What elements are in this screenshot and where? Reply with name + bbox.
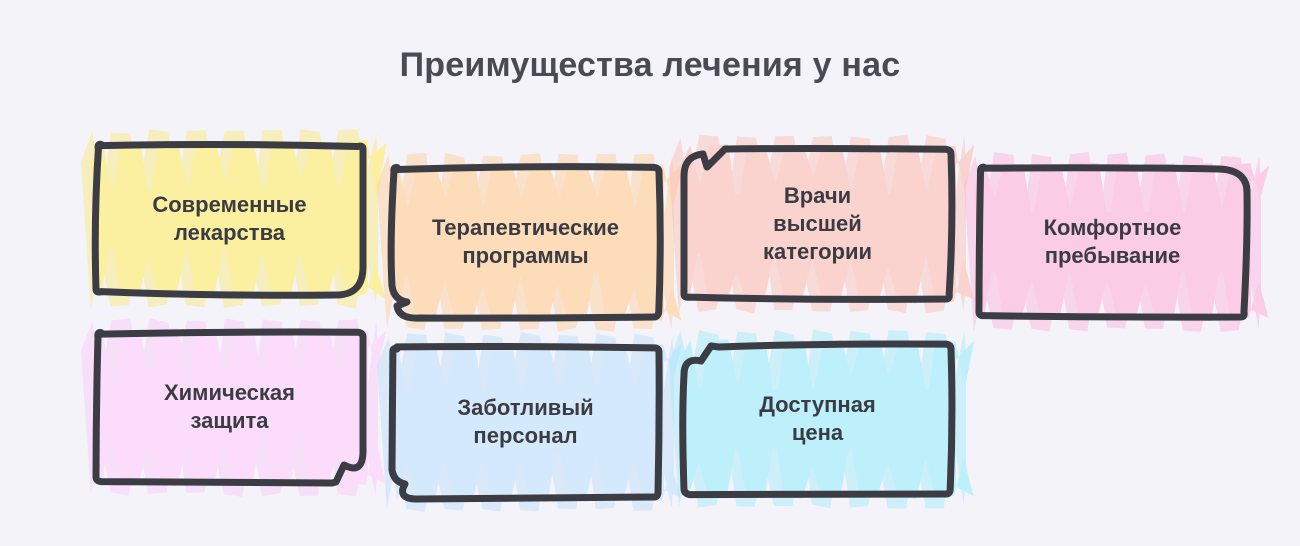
card-sketch-graphic (97, 333, 362, 481)
card-zabotlivyy-personal[interactable]: Заботливый персонал (393, 348, 658, 496)
fill-core (98, 377, 361, 436)
card-komfortnoe-prebyvanie[interactable]: Комфортное пребывание (980, 168, 1245, 316)
card-sovremennye-lekarstva[interactable]: Современные лекарства (97, 145, 362, 293)
slide-canvas: Преимущества лечения у нас Современные л… (0, 0, 1300, 546)
card-sketch-graphic (393, 348, 658, 496)
fill-core (981, 212, 1244, 271)
fill-core (394, 392, 657, 451)
card-sketch-graphic (97, 145, 362, 293)
card-vrachi-vysshey-kategorii[interactable]: Врачи высшей категории (685, 150, 950, 298)
card-sketch-graphic (980, 168, 1245, 316)
card-sketch-graphic (685, 345, 950, 493)
card-sketch-graphic (685, 150, 950, 298)
page-title: Преимущества лечения у нас (0, 46, 1300, 85)
card-terapevticheskie-programmy[interactable]: Терапевтические программы (393, 168, 658, 316)
card-sketch-graphic (393, 168, 658, 316)
card-dostupnaya-tsena[interactable]: Доступная цена (685, 345, 950, 493)
card-himicheskaya-zashchita[interactable]: Химическая защита (97, 333, 362, 481)
fill-core (686, 194, 949, 253)
fill-core (98, 189, 361, 248)
fill-core (686, 389, 949, 448)
fill-core (394, 212, 657, 271)
